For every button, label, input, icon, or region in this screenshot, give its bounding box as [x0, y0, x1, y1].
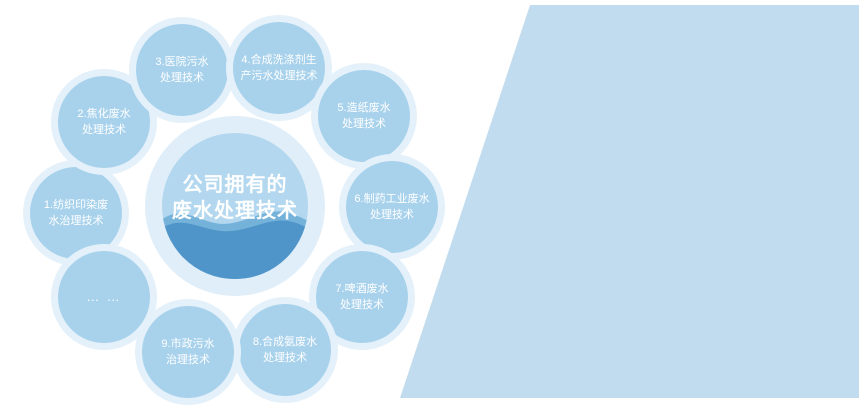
- bubble-10-label-line: … …: [86, 287, 122, 307]
- bubble-4-label-line: 4.合成洗涤剂生: [241, 52, 316, 69]
- bubble-5-label-line: 5.造纸废水: [337, 100, 390, 117]
- hub-circle[interactable]: 公司拥有的废水处理技术: [162, 133, 308, 279]
- bubble-8[interactable]: 8.合成氨废水处理技术: [239, 304, 331, 396]
- bubble-7-label-line: 处理技术: [340, 297, 384, 314]
- hub-title-line: 废水处理技术: [172, 198, 298, 224]
- bubble-4-label-line: 产污水处理技术: [241, 68, 318, 85]
- bubble-3-label-line: 处理技术: [160, 70, 204, 87]
- bubble-1-label-line: 1.纺织印染废: [44, 197, 108, 214]
- bubble-9-label-line: 9.市政污水: [161, 336, 214, 353]
- bubble-6-label-line: 处理技术: [370, 207, 414, 224]
- bubble-3-label-line: 3.医院污水: [155, 54, 208, 71]
- bubble-4[interactable]: 4.合成洗涤剂生产污水处理技术: [233, 22, 325, 114]
- bubble-2-label-line: 2.焦化废水: [77, 106, 130, 123]
- bubble-9[interactable]: 9.市政污水治理技术: [142, 306, 234, 398]
- bubble-8-label-line: 8.合成氨废水: [253, 334, 317, 351]
- bubble-8-label-line: 处理技术: [263, 350, 307, 367]
- slide-canvas: 1.纺织印染废水治理技术2.焦化废水处理技术3.医院污水处理技术4.合成洗涤剂生…: [0, 0, 859, 407]
- bubble-5-label-line: 处理技术: [342, 116, 386, 133]
- bubble-3[interactable]: 3.医院污水处理技术: [136, 24, 228, 116]
- bubble-6[interactable]: 6.制药工业废水处理技术: [346, 161, 438, 253]
- bubble-10[interactable]: … …: [58, 251, 150, 343]
- bubble-5[interactable]: 5.造纸废水处理技术: [318, 70, 410, 162]
- bubble-2-label-line: 处理技术: [82, 122, 126, 139]
- bubble-6-label-line: 6.制药工业废水: [354, 191, 429, 208]
- hub-title: 公司拥有的废水处理技术: [162, 133, 308, 279]
- bubble-7-label-line: 7.啤酒废水: [335, 281, 388, 298]
- hub-title-line: 公司拥有的: [183, 172, 288, 198]
- bubble-9-label-line: 治理技术: [166, 352, 210, 369]
- bubble-1-label-line: 水治理技术: [49, 213, 104, 230]
- waste-water-technology-diagram: 1.纺织印染废水治理技术2.焦化废水处理技术3.医院污水处理技术4.合成洗涤剂生…: [0, 0, 470, 407]
